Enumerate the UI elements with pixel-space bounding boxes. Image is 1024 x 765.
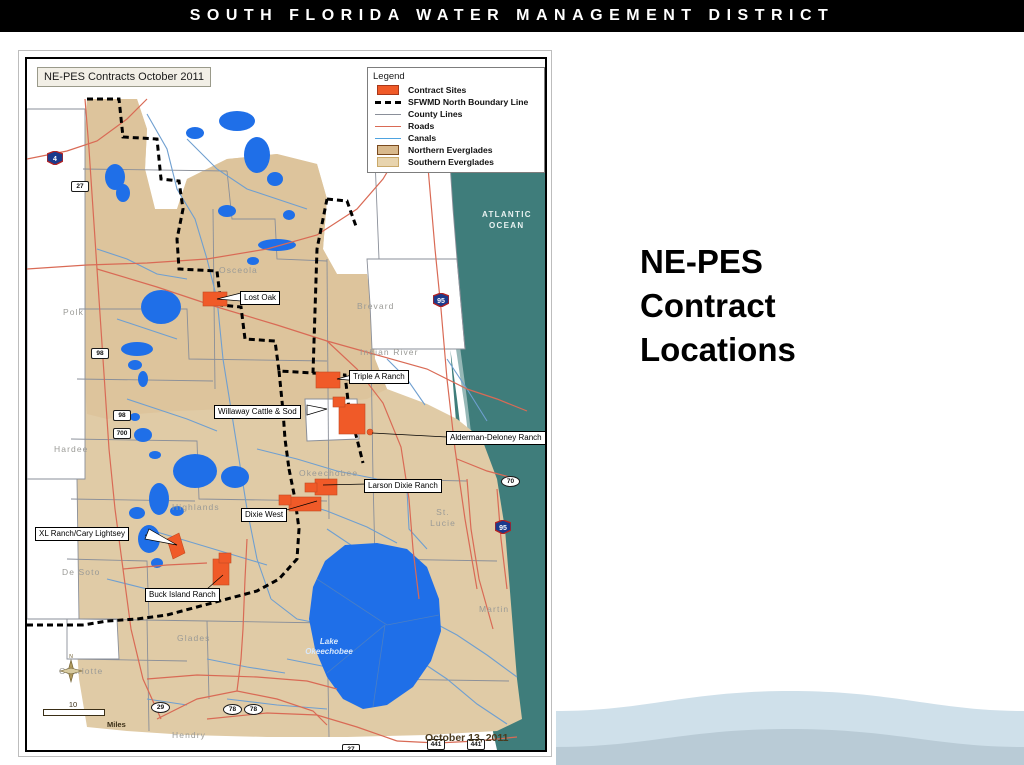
callout-larson-dixie-ranch: Larson Dixie Ranch (364, 479, 442, 493)
map-frame: NE-PES Contracts October 2011 Osceola Po… (18, 50, 552, 757)
route-shield-us98-a: 98 (91, 348, 109, 359)
legend-label-southern-everglades: Southern Everglades (408, 157, 494, 167)
callout-triple-a-ranch: Triple A Ranch (349, 370, 409, 384)
legend-label-contract-sites: Contract Sites (408, 85, 466, 95)
legend-item-southern-everglades: Southern Everglades (373, 156, 540, 168)
county-label-highlands: Highlands (172, 502, 220, 512)
legend-title: Legend (373, 71, 540, 82)
callout-dixie-west: Dixie West (241, 508, 287, 522)
legend-label-county-lines: County Lines (408, 109, 462, 119)
route-shield-us27-north: 27 (71, 181, 89, 192)
callout-willaway-cattle-sod: Willaway Cattle & Sod (214, 405, 301, 419)
legend-label-northern-everglades: Northern Everglades (408, 145, 493, 155)
route-shield-sr78-b: 78 (244, 704, 263, 715)
callout-lost-oak: Lost Oak (240, 291, 280, 305)
route-shield-us27-south: 27 (342, 744, 360, 752)
legend-key-southern-everglades-icon (373, 157, 403, 168)
slide-title-line-1: NE-PES (640, 240, 980, 284)
route-shield-us98-b: 98 (113, 410, 131, 421)
legend-item-county-lines: County Lines (373, 108, 540, 120)
slide-title-line-2: Contract (640, 284, 980, 328)
legend-key-northern-everglades-icon (373, 145, 403, 156)
map-title-box: NE-PES Contracts October 2011 (37, 67, 211, 87)
county-label-hendry: Hendry (172, 730, 206, 740)
legend-item-northern-everglades: Northern Everglades (373, 144, 540, 156)
county-label-okeechobee: Okeechobee (299, 468, 358, 478)
legend-label-roads: Roads (408, 121, 434, 131)
county-label-hardee: Hardee (54, 444, 88, 454)
lake-okeechobee-label-line1: Lake (299, 637, 359, 647)
slide-body: NE-PES Contracts October 2011 Osceola Po… (0, 32, 1024, 765)
route-shield-i95-north: 95 (433, 293, 449, 307)
scale-bar-graphic (43, 709, 105, 716)
map-legend: Legend Contract Sites SFWMD North Bounda… (367, 67, 545, 173)
legend-key-canal-line-icon (373, 133, 403, 144)
wave-decoration (556, 685, 1024, 765)
county-label-polk: Polk (63, 307, 84, 317)
route-shield-i4: 4 (47, 151, 63, 165)
county-label-indian-river: Indian River (360, 347, 419, 357)
legend-label-canals: Canals (408, 133, 436, 143)
county-label-de-soto: De Soto (62, 567, 100, 577)
slide-title-line-3: Locations (640, 328, 980, 372)
route-shield-i95-south: 95 (495, 520, 511, 534)
compass-rose: N (57, 651, 85, 685)
county-label-martin: Martin (479, 604, 509, 614)
legend-item-contract-sites: Contract Sites (373, 84, 540, 96)
county-label-glades: Glades (177, 633, 211, 643)
legend-key-county-line-icon (373, 109, 403, 120)
legend-key-road-line-icon (373, 121, 403, 132)
callout-xl-ranch-cary-lightsey: XL Ranch/Cary Lightsey (35, 527, 129, 541)
lake-okeechobee-label-line2: Okeechobee (289, 647, 369, 657)
route-shield-sr29: 29 (151, 702, 170, 713)
legend-item-boundary-line: SFWMD North Boundary Line (373, 96, 540, 108)
county-label-brevard: Brevard (357, 301, 394, 311)
scale-bar: 10 Miles (43, 700, 135, 716)
route-shield-i95-south-number: 95 (495, 524, 511, 533)
route-shield-sr70: 70 (501, 476, 520, 487)
callout-alderman-deloney-ranch: Alderman-Deloney Ranch (446, 431, 546, 445)
route-shield-us700: 700 (113, 428, 131, 439)
legend-key-contract-sites-icon (373, 85, 403, 96)
route-shield-i4-number: 4 (47, 155, 63, 164)
atlantic-ocean-label-line1: ATLANTIC (482, 209, 532, 220)
atlantic-ocean-label-line2: OCEAN (489, 220, 524, 231)
route-shield-sr78-a: 78 (223, 704, 242, 715)
route-shield-i95-north-number: 95 (433, 297, 449, 306)
header-banner: SOUTH FLORIDA WATER MANAGEMENT DISTRICT (0, 0, 1024, 32)
legend-item-roads: Roads (373, 120, 540, 132)
slide-title: NE-PES Contract Locations (640, 240, 980, 372)
legend-key-dashed-line-icon (373, 97, 403, 108)
legend-label-boundary-line: SFWMD North Boundary Line (408, 97, 528, 107)
map-inner-frame: NE-PES Contracts October 2011 Osceola Po… (25, 57, 547, 752)
organization-title: SOUTH FLORIDA WATER MANAGEMENT DISTRICT (190, 7, 835, 25)
county-label-st-lucie: St. Lucie (424, 507, 462, 529)
legend-item-canals: Canals (373, 132, 540, 144)
map-date-stamp: October 13, 2011 (425, 732, 508, 744)
county-label-osceola: Osceola (219, 265, 258, 275)
scale-bar-units: Miles (107, 720, 126, 729)
svg-text:N: N (69, 654, 73, 660)
scale-bar-value: 10 (43, 700, 103, 709)
callout-buck-island-ranch: Buck Island Ranch (145, 588, 220, 602)
